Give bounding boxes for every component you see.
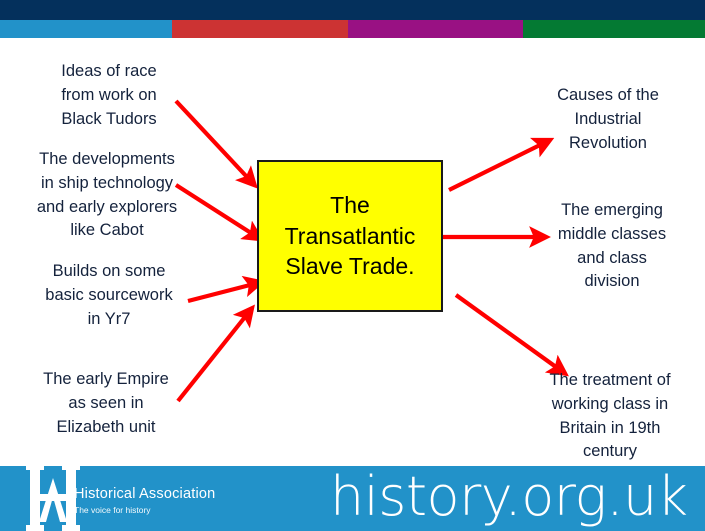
slide-canvas: The Transatlantic Slave Trade. Ideas of …	[0, 0, 705, 531]
node-working-class: The treatment of working class in Britai…	[518, 369, 702, 464]
color-segment-red	[172, 20, 348, 38]
node-ideas-of-race: Ideas of race from work on Black Tudors	[14, 60, 204, 131]
central-topic-box: The Transatlantic Slave Trade.	[257, 160, 443, 312]
central-topic-line-1: The	[330, 190, 370, 221]
node-middle-classes: The emerging middle classes and class di…	[524, 199, 700, 294]
top-navy-band	[0, 0, 705, 20]
color-segment-green	[523, 20, 705, 38]
central-topic-line-2: Transatlantic	[285, 221, 416, 252]
organisation-name: Historical Association	[74, 486, 215, 502]
node-ship-technology: The developments in ship technology and …	[6, 148, 208, 243]
color-strip	[0, 20, 705, 38]
organisation-tagline: The voice for history	[74, 505, 215, 515]
color-segment-blue	[0, 20, 172, 38]
node-early-empire: The early Empire as seen in Elizabeth un…	[8, 368, 204, 439]
node-basic-sourcework: Builds on some basic sourcework in Yr7	[14, 260, 204, 331]
central-topic-line-3: Slave Trade.	[285, 251, 414, 282]
website-url: history.org.uk	[330, 466, 688, 528]
arrow-working-class	[456, 295, 556, 367]
node-industrial-revolution: Causes of the Industrial Revolution	[522, 84, 694, 155]
footer-brand: Historical Association The voice for his…	[74, 486, 215, 515]
color-segment-purple	[348, 20, 523, 38]
